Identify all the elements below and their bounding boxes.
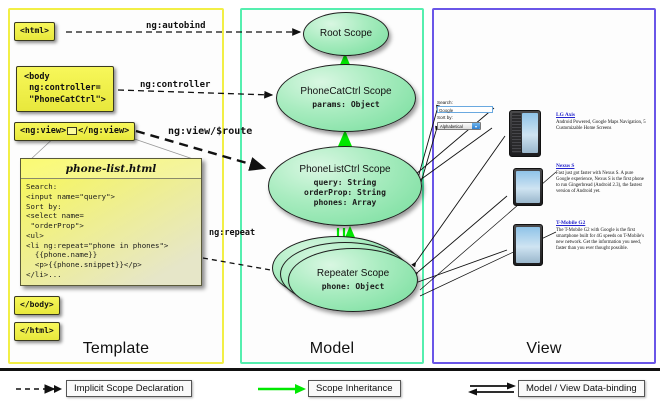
scope-root: Root Scope — [303, 12, 389, 56]
scope-phonecatctrl: PhoneCatCtrl Scope params: Object — [276, 64, 416, 132]
scope-repeater-props: phone: Object — [322, 282, 385, 292]
scope-repeater-name: Repeater Scope — [317, 268, 389, 279]
listing-link-1[interactable]: LG Axis — [556, 112, 648, 118]
listing-link-2[interactable]: Nexus S — [556, 163, 648, 169]
scope-phonelistctrl: PhoneListCtrl Scope query: String orderP… — [268, 146, 422, 226]
panel-model-title: Model — [242, 340, 422, 358]
listing-item-1: LG Axis Android Powered, Google Maps Nav… — [556, 112, 648, 132]
tag-html-close: </html> — [14, 322, 60, 341]
scope-root-name: Root Scope — [320, 28, 372, 39]
note-title: phone-list.html — [21, 159, 201, 178]
note-phone-list-html: phone-list.html Search: <input name="que… — [20, 158, 202, 286]
search-input[interactable]: Google — [437, 106, 493, 113]
tag-ngview: <ng:view></ng:view> — [14, 122, 135, 141]
label-ng-autobind: ng:autobind — [146, 21, 206, 31]
label-ng-controller: ng:controller — [140, 80, 210, 90]
double-arrow-icon — [466, 382, 518, 396]
scope-phonelistctrl-props: query: String orderProp: String phones: … — [304, 178, 386, 208]
tag-body-close: </body> — [14, 296, 60, 315]
legend-item-data-binding: Model / View Data-binding — [466, 380, 645, 397]
scope-phonecatctrl-name: PhoneCatCtrl Scope — [300, 86, 391, 97]
legend: Implicit Scope Declaration Scope Inherit… — [0, 368, 660, 408]
green-arrow-icon — [256, 383, 308, 395]
listing-snippet-2: Fast just got faster with Nexus S. A pur… — [556, 171, 648, 196]
view-search-form: Search: Google Sort by: Alphabetical ▾ — [437, 100, 497, 130]
diagram-stage: Template Model View — [0, 0, 660, 405]
search-label: Search: — [437, 100, 497, 105]
sort-label: Sort by: — [437, 115, 497, 120]
listing-item-3: T-Mobile G2 The T-Mobile G2 with Google … — [556, 220, 648, 253]
dashed-arrow-icon — [14, 383, 66, 395]
legend-label-implicit-scope: Implicit Scope Declaration — [66, 380, 192, 397]
tag-ngview-open: <ng:view> — [20, 126, 66, 136]
phone-thumbnail-3 — [513, 224, 543, 266]
phone-thumbnail-2 — [513, 168, 543, 206]
tag-body-open: <body ng:controller= "PhoneCatCtrl"> — [16, 66, 114, 112]
label-ng-repeat: ng:repeat — [209, 228, 255, 238]
sort-select[interactable]: Alphabetical ▾ — [437, 122, 481, 130]
scope-phonecatctrl-props: params: Object — [312, 100, 379, 110]
listing-snippet-3: The T-Mobile G2 with Google is the first… — [556, 228, 648, 253]
legend-item-implicit-scope: Implicit Scope Declaration — [14, 380, 192, 397]
legend-item-scope-inheritance: Scope Inheritance — [256, 380, 401, 397]
panel-template-title: Template — [10, 340, 222, 358]
listing-item-2: Nexus S Fast just got faster with Nexus … — [556, 163, 648, 196]
scope-repeater: Repeater Scope phone: Object — [288, 248, 418, 312]
listing-snippet-1: Android Powered, Google Maps Navigation,… — [556, 120, 648, 132]
phone-thumbnail-1 — [509, 110, 541, 157]
legend-label-scope-inheritance: Scope Inheritance — [308, 380, 401, 397]
legend-label-data-binding: Model / View Data-binding — [518, 380, 645, 397]
listing-link-3[interactable]: T-Mobile G2 — [556, 220, 648, 226]
panel-view-title: View — [434, 340, 654, 358]
tag-html-open: <html> — [14, 22, 55, 41]
tag-ngview-close: </ng:view> — [78, 126, 129, 136]
sort-select-value: Alphabetical — [440, 124, 463, 129]
label-ng-view-route: ng:view/$route — [168, 126, 252, 137]
chevron-down-icon: ▾ — [472, 123, 480, 129]
ngview-placeholder-icon — [67, 127, 77, 135]
note-code: Search: <input name="query"> Sort by: <s… — [21, 178, 201, 285]
scope-phonelistctrl-name: PhoneListCtrl Scope — [299, 164, 390, 175]
